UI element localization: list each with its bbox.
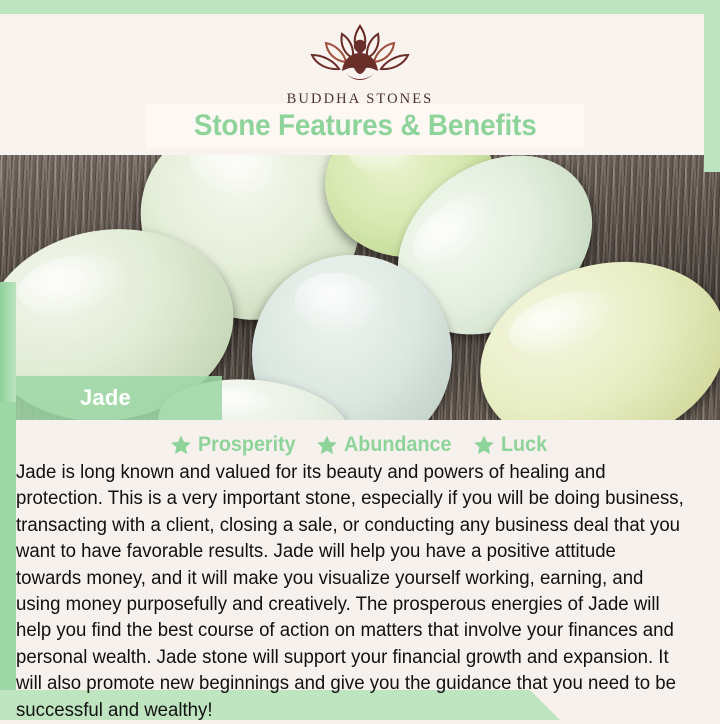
benefit-item: Abundance [316,433,458,457]
page-title: Stone Features & Benefits [194,109,537,143]
benefit-label: Prosperity [198,433,296,457]
decorative-right-strip [704,0,720,172]
stone-name-band: Jade [16,376,222,420]
benefit-item: Prosperity [170,433,302,457]
lotus-meditation-icon [296,22,424,88]
stone-name: Jade [80,385,131,411]
benefit-label: Luck [501,433,547,457]
star-icon [316,434,338,456]
page-title-band: Stone Features & Benefits [146,104,584,148]
logo-lockup: BUDDHA STONES [0,22,720,108]
benefit-label: Abundance [344,433,451,457]
star-icon [473,434,495,456]
stone-description: Jade is long known and valued for its be… [16,460,684,724]
decorative-top-band [0,0,720,14]
decorative-left-strip [0,282,16,720]
benefits-row: Prosperity Abundance Luck [0,428,720,462]
benefit-item: Luck [473,433,550,457]
star-icon [170,434,192,456]
